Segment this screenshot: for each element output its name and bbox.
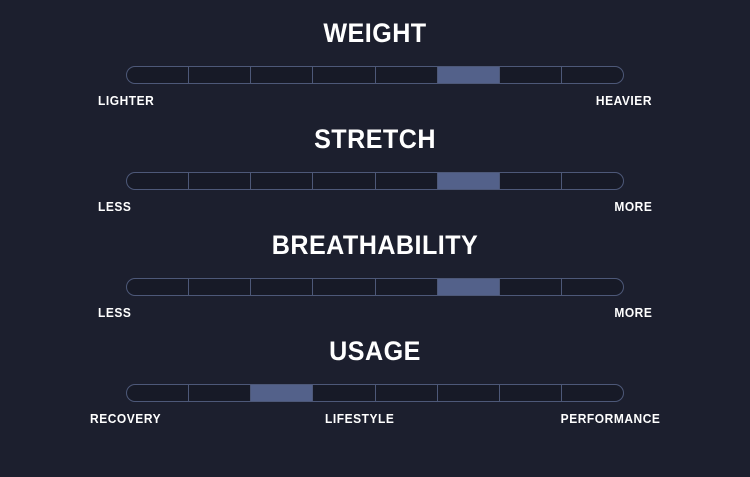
scale-label-min: LIGHTER <box>98 94 154 108</box>
scale-segment[interactable] <box>500 279 562 295</box>
scale-segment[interactable] <box>313 173 375 189</box>
scale-segment-active[interactable] <box>438 67 500 83</box>
scale-label-max: HEAVIER <box>596 94 652 108</box>
spec-row-usage: USAGE RECOVERY LIFESTYLE PERFORMANCE <box>0 338 750 444</box>
scale-label-min: RECOVERY <box>90 412 161 426</box>
scale-segment[interactable] <box>500 173 562 189</box>
scale-segment[interactable] <box>313 279 375 295</box>
scale-segment[interactable] <box>313 67 375 83</box>
scale-segment[interactable] <box>127 279 189 295</box>
scale-segment[interactable] <box>562 173 623 189</box>
scale-breathability: LESS MORE <box>126 278 624 320</box>
scale-segment[interactable] <box>251 279 313 295</box>
scale-track-stretch[interactable] <box>126 172 624 190</box>
scale-labels-stretch: LESS MORE <box>98 200 652 214</box>
scale-segment[interactable] <box>251 67 313 83</box>
scale-weight: LIGHTER HEAVIER <box>126 66 624 108</box>
spec-title-stretch: STRETCH <box>26 126 724 153</box>
scale-segment[interactable] <box>189 385 251 401</box>
scale-segment[interactable] <box>127 67 189 83</box>
scale-labels-breathability: LESS MORE <box>98 306 652 320</box>
scale-segment[interactable] <box>189 67 251 83</box>
scale-labels-usage: RECOVERY LIFESTYLE PERFORMANCE <box>90 412 660 426</box>
scale-segment-active[interactable] <box>251 385 313 401</box>
scale-label-min: LESS <box>98 306 131 320</box>
scale-label-max: PERFORMANCE <box>560 412 660 426</box>
spec-row-breathability: BREATHABILITY LESS MORE <box>0 232 750 338</box>
scale-track-weight[interactable] <box>126 66 624 84</box>
scale-segment[interactable] <box>562 385 623 401</box>
spec-row-weight: WEIGHT LIGHTER HEAVIER <box>0 20 750 126</box>
scale-segment[interactable] <box>189 279 251 295</box>
scale-segment-active[interactable] <box>438 279 500 295</box>
product-spec-panel: WEIGHT LIGHTER HEAVIER STRETCH <box>0 0 750 477</box>
scale-segment[interactable] <box>438 385 500 401</box>
scale-segment[interactable] <box>376 279 438 295</box>
scale-segment[interactable] <box>127 385 189 401</box>
scale-track-usage[interactable] <box>126 384 624 402</box>
scale-stretch: LESS MORE <box>126 172 624 214</box>
scale-segment[interactable] <box>251 173 313 189</box>
scale-label-max: MORE <box>614 306 652 320</box>
scale-track-breathability[interactable] <box>126 278 624 296</box>
spec-row-stretch: STRETCH LESS MORE <box>0 126 750 232</box>
scale-segment-active[interactable] <box>438 173 500 189</box>
scale-segment[interactable] <box>189 173 251 189</box>
scale-segment[interactable] <box>562 67 623 83</box>
scale-label-min: LESS <box>98 200 131 214</box>
spec-title-weight: WEIGHT <box>26 20 724 47</box>
scale-segment[interactable] <box>376 173 438 189</box>
scale-label-max: MORE <box>614 200 652 214</box>
spec-title-usage: USAGE <box>26 338 724 365</box>
scale-usage: RECOVERY LIFESTYLE PERFORMANCE <box>126 384 624 426</box>
scale-segment[interactable] <box>127 173 189 189</box>
scale-segment[interactable] <box>376 385 438 401</box>
scale-label-mid: LIFESTYLE <box>325 412 394 426</box>
spec-title-breathability: BREATHABILITY <box>26 232 724 259</box>
scale-labels-weight: LIGHTER HEAVIER <box>98 94 652 108</box>
scale-segment[interactable] <box>500 67 562 83</box>
scale-segment[interactable] <box>313 385 375 401</box>
scale-segment[interactable] <box>500 385 562 401</box>
scale-segment[interactable] <box>562 279 623 295</box>
scale-segment[interactable] <box>376 67 438 83</box>
